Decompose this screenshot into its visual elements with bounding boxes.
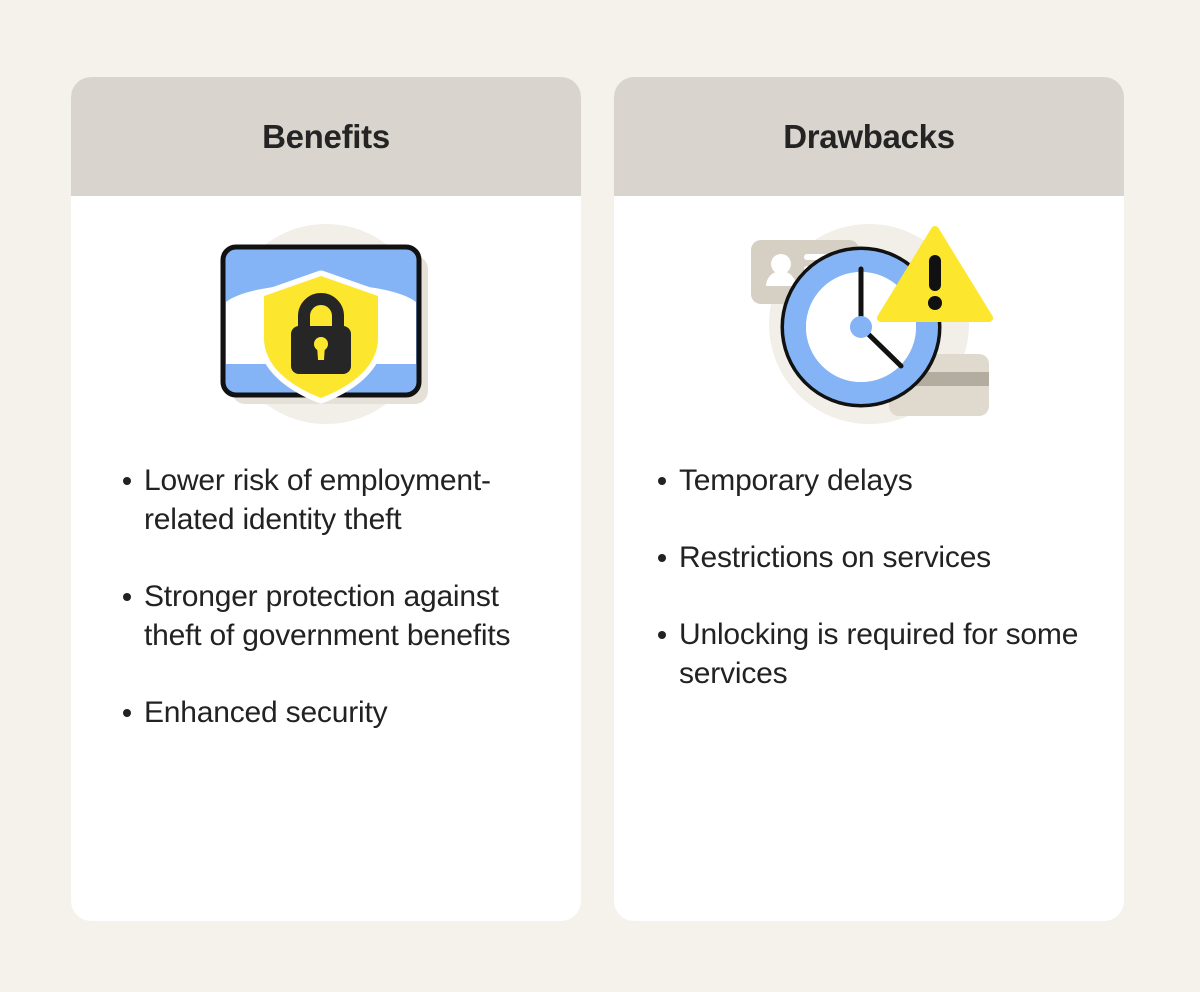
list-item: Unlocking is required for some services (658, 615, 1104, 693)
benefits-title: Benefits (262, 118, 390, 156)
drawbacks-illustration (739, 214, 999, 439)
drawbacks-card-body: Temporary delays Restrictions on service… (614, 196, 1124, 921)
list-item-label: Lower risk of employment-related identit… (144, 461, 547, 539)
bullet-dot-icon (658, 554, 666, 562)
bullet-dot-icon (123, 477, 131, 485)
list-item-label: Restrictions on services (679, 538, 991, 577)
benefits-card-header: Benefits (71, 77, 581, 196)
bullet-dot-icon (658, 631, 666, 639)
list-item: Lower risk of employment-related identit… (123, 461, 547, 539)
bullet-dot-icon (658, 477, 666, 485)
bullet-dot-icon (123, 593, 131, 601)
drawbacks-card-header: Drawbacks (614, 77, 1124, 196)
infographic-canvas: Benefits (0, 0, 1200, 992)
benefits-card: Benefits (71, 77, 581, 921)
benefits-illustration (196, 214, 456, 439)
list-item-label: Temporary delays (679, 461, 913, 500)
drawbacks-title: Drawbacks (783, 118, 955, 156)
list-item: Stronger protection against theft of gov… (123, 577, 547, 655)
list-item: Enhanced security (123, 693, 547, 732)
list-item: Restrictions on services (658, 538, 1104, 577)
benefits-bullet-list: Lower risk of employment-related identit… (71, 461, 581, 770)
bullet-dot-icon (123, 709, 131, 717)
id-card-shield-lock-icon (196, 214, 456, 439)
list-item-label: Stronger protection against theft of gov… (144, 577, 547, 655)
benefits-card-body: Lower risk of employment-related identit… (71, 196, 581, 921)
drawbacks-bullet-list: Temporary delays Restrictions on service… (614, 461, 1124, 731)
list-item-label: Unlocking is required for some services (679, 615, 1104, 693)
list-item: Temporary delays (658, 461, 1104, 500)
clock-warning-delay-icon (739, 214, 999, 439)
drawbacks-card: Drawbacks (614, 77, 1124, 921)
list-item-label: Enhanced security (144, 693, 387, 732)
